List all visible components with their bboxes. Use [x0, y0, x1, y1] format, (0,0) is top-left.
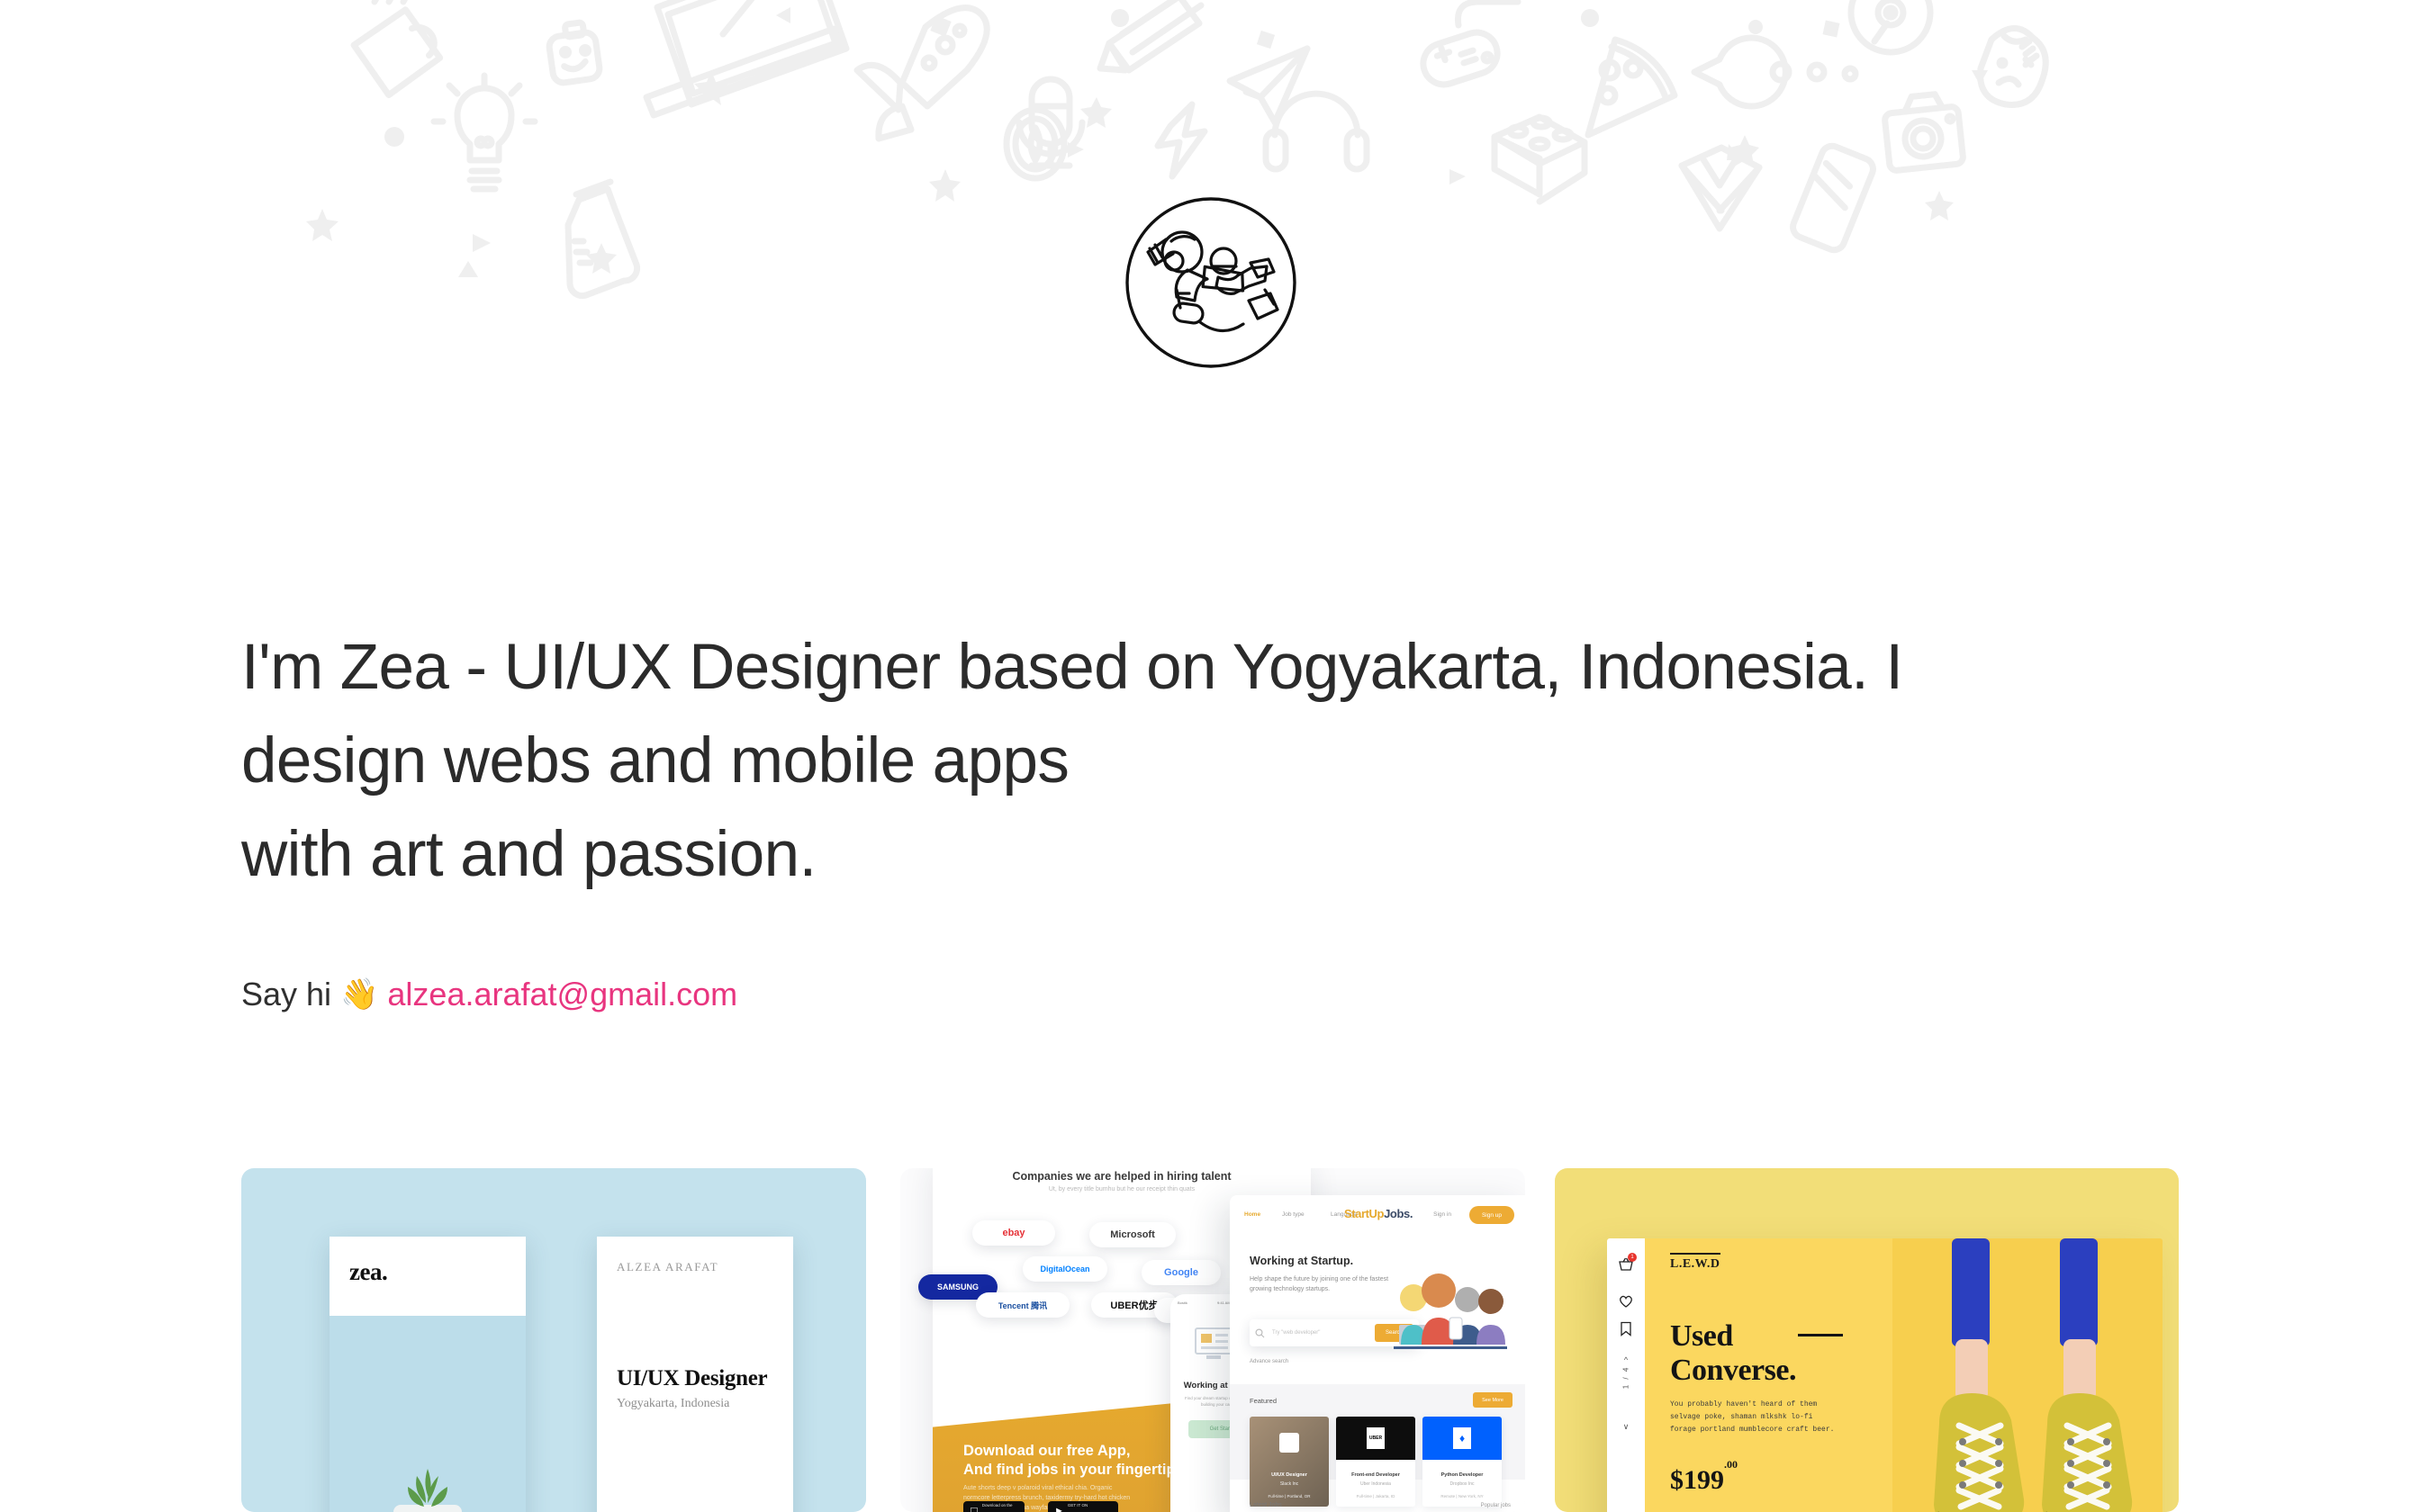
- square-icon: [1257, 31, 1275, 49]
- search-placeholder: Try "web developer": [1272, 1330, 1320, 1336]
- carousel-pager: 1 / 4: [1622, 1366, 1630, 1390]
- job-card[interactable]: UI/UX Designer Slack Inc Full-time | Por…: [1250, 1417, 1329, 1507]
- job-meta: Full-time | Jakarta, ID: [1336, 1494, 1415, 1498]
- say-hi-label: Say hi: [241, 974, 331, 1015]
- nav-link-home[interactable]: Home: [1244, 1211, 1260, 1218]
- lightning-bolt-icon: [1158, 104, 1205, 176]
- square-icon: [1823, 21, 1840, 38]
- portfolio-page: I'm Zea - UI/UX Designer based on Yogyak…: [0, 0, 2420, 1512]
- dot-icon: [1748, 20, 1763, 34]
- product-title: Used Converse.: [1670, 1319, 1796, 1388]
- waving-hand-icon: 👋: [340, 979, 378, 1010]
- company-chip-ebay: ebay: [972, 1220, 1055, 1246]
- gamepad-icon: [1418, 2, 1518, 90]
- uber-logo-icon: UBER: [1367, 1427, 1385, 1449]
- featured-jobs-section: Featured See More UI/UX Designer Slack I…: [1230, 1384, 1525, 1480]
- job-title: Python Developer: [1422, 1472, 1502, 1478]
- site-nav: Home Job type Language StartUpJobs. Sign…: [1230, 1195, 1525, 1235]
- ecommerce-mockup: 1 ^ 1 / 4: [1607, 1238, 2163, 1512]
- lightbulb-icon: [434, 76, 535, 189]
- project-gallery: zea.: [0, 1168, 2420, 1512]
- companies-heading: Companies we are helped in hiring talent: [933, 1170, 1311, 1183]
- plant-photo: [330, 1316, 526, 1512]
- dot-icon: [1111, 9, 1129, 27]
- diamond-icon: [1682, 148, 1759, 229]
- pizza-slice-icon: [1588, 40, 1675, 135]
- lego-head-icon: [548, 22, 601, 85]
- slack-logo-icon: [1279, 1433, 1299, 1453]
- pacman-icon: [1694, 38, 1785, 106]
- triangle-icon: [458, 261, 478, 277]
- job-thumbnail: [1250, 1417, 1329, 1507]
- lewd-logo: L.E.W.D: [1670, 1253, 1720, 1272]
- succulent-icon: [402, 1467, 453, 1512]
- project-card-startupjobs[interactable]: Companies we are helped in hiring talent…: [900, 1168, 1525, 1512]
- sign-in-link[interactable]: Sign in: [1433, 1211, 1451, 1218]
- product-description: You probably haven't heard of them selva…: [1670, 1399, 1841, 1436]
- bookmark-icon[interactable]: [1620, 1321, 1632, 1341]
- latest-jobs-label: Latest Jobs: [1250, 1502, 1282, 1508]
- featured-label: Featured: [1250, 1397, 1277, 1405]
- company-chip-google: Google: [1142, 1260, 1221, 1285]
- project-card-lewd-shop[interactable]: 1 ^ 1 / 4: [1555, 1168, 2179, 1512]
- cart-badge: 1: [1628, 1253, 1637, 1262]
- product-body: L.E.W.D Used Converse. You probably have…: [1645, 1238, 2163, 1512]
- pencil-icon: [1100, 0, 1201, 70]
- job-card[interactable]: ♦ Python Developer Dropbox Inc Remote | …: [1422, 1417, 1502, 1507]
- chevron-down-icon[interactable]: ∨: [1623, 1422, 1630, 1432]
- person-role: UI/UX Designer: [617, 1366, 767, 1391]
- job-company: Uber Indonesia: [1336, 1481, 1415, 1487]
- laptop-icon: [646, 0, 846, 115]
- job-title: UI/UX Designer: [1250, 1472, 1329, 1478]
- microphone-icon: [1019, 79, 1082, 166]
- nav-link-job-type[interactable]: Job type: [1282, 1211, 1305, 1218]
- business-card-front: zea.: [330, 1237, 526, 1512]
- hero-section: I'm Zea - UI/UX Designer based on Yogyak…: [241, 621, 2042, 902]
- rocket-icon: [857, 8, 987, 139]
- astronaut-logo-icon[interactable]: [1124, 196, 1297, 369]
- cd-disc-icon: [1851, 0, 1930, 52]
- flask-icon: [568, 182, 637, 296]
- product-price: $199.00: [1670, 1465, 1738, 1496]
- paper-plane-icon: [1230, 49, 1307, 122]
- job-meta: Remote | New York, NY: [1422, 1494, 1502, 1498]
- companies-subheading: Ut, by every title bumhu but he our rece…: [933, 1186, 1311, 1192]
- title-dash: [1798, 1334, 1843, 1336]
- square-icon: [930, 15, 951, 36]
- triangle-icon: [1972, 70, 1988, 85]
- zea-logo-text: zea.: [349, 1258, 387, 1286]
- job-card[interactable]: UBER Front-end Developer Uber Indonesia …: [1336, 1417, 1415, 1507]
- contact-line: Say hi 👋 alzea.arafat@gmail.com: [241, 974, 737, 1015]
- company-chip-tencent: Tencent 腾讯: [976, 1292, 1070, 1318]
- dropbox-logo-icon: ♦: [1453, 1427, 1471, 1449]
- dot-icon: [1845, 68, 1856, 79]
- company-chip-digitalocean: DigitalOcean: [1023, 1256, 1107, 1282]
- job-company: Slack Inc: [1250, 1481, 1329, 1487]
- project-card-zea-branding[interactable]: zea.: [241, 1168, 866, 1512]
- see-more-button[interactable]: See More: [1473, 1392, 1512, 1408]
- triangle-icon: [776, 7, 790, 23]
- banner-headline: Download our free App, And find jobs in …: [963, 1442, 1188, 1480]
- monster-head-icon: [1981, 28, 2046, 104]
- team-illustration-icon: [1381, 1258, 1516, 1357]
- side-rail: 1 ^ 1 / 4: [1607, 1238, 1645, 1512]
- dot-icon: [1773, 64, 1789, 80]
- job-title: Front-end Developer: [1336, 1472, 1415, 1478]
- coffee-mug-icon: [348, 0, 446, 101]
- startupjobs-logo: StartUpJobs.: [1344, 1207, 1413, 1220]
- popular-jobs-filter[interactable]: Popular jobs: [1481, 1503, 1511, 1508]
- compass-icon: [1007, 110, 1064, 178]
- converse-shoes-photo: [1892, 1238, 2163, 1512]
- person-location: Yogyakarta, Indonesia: [617, 1397, 729, 1411]
- company-chip-microsoft: Microsoft: [1089, 1222, 1176, 1247]
- triangle-icon: [473, 234, 491, 252]
- smartphone-icon: [1790, 143, 1876, 254]
- dot-icon: [384, 127, 404, 147]
- dot-icon: [1810, 65, 1824, 79]
- triangle-icon: [1449, 169, 1466, 184]
- basket-icon[interactable]: 1: [1618, 1256, 1634, 1277]
- advance-search-toggle[interactable]: Advance search: [1250, 1359, 1288, 1364]
- triangle-icon: [1068, 142, 1084, 157]
- business-card-back: ALZEA ARAFAT UI/UX Designer Yogyakarta, …: [597, 1237, 793, 1512]
- app-store-badge[interactable]:  Download on the App Store: [963, 1501, 1025, 1512]
- email-link[interactable]: alzea.arafat@gmail.com: [387, 974, 737, 1015]
- triangle-icon: [1727, 144, 1743, 160]
- search-icon: [1255, 1328, 1265, 1338]
- person-name: ALZEA ARAFAT: [617, 1260, 718, 1274]
- headphones-icon: [1266, 94, 1367, 169]
- dot-icon: [1581, 9, 1599, 27]
- google-play-badge[interactable]: ► GET IT ON Google Play: [1048, 1501, 1118, 1512]
- job-company: Dropbox Inc: [1422, 1481, 1502, 1487]
- job-meta: Full-time | Portland, OR: [1250, 1494, 1329, 1498]
- lego-brick-icon: [1494, 117, 1585, 202]
- chevron-up-icon[interactable]: ^: [1624, 1355, 1628, 1364]
- camera-icon: [1884, 94, 1964, 171]
- sign-up-button[interactable]: Sign up: [1469, 1206, 1514, 1224]
- page-title: I'm Zea - UI/UX Designer based on Yogyak…: [241, 621, 2042, 902]
- apple-icon: : [970, 1506, 979, 1512]
- heart-icon[interactable]: [1619, 1294, 1634, 1313]
- web-app-mockup: Home Job type Language StartUpJobs. Sign…: [1230, 1195, 1525, 1512]
- play-triangle-icon: ►: [1054, 1507, 1064, 1512]
